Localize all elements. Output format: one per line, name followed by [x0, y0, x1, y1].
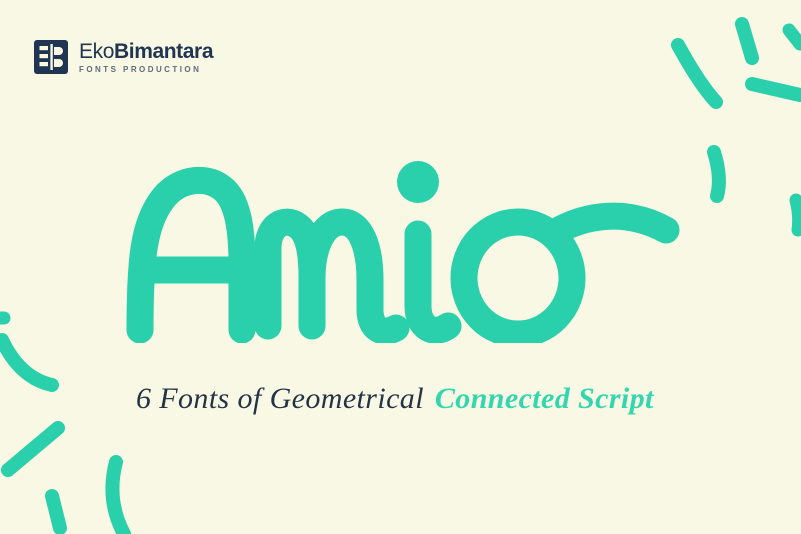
hero-letter-i-dot: [397, 161, 439, 203]
brand-wordmark: EkoBimantara: [79, 41, 213, 62]
decor-dash-top-right-2: [752, 84, 800, 95]
brand-logo-lockup[interactable]: EkoBimantara FONTS PRODUCTION: [32, 38, 213, 76]
decor-dash-left-1: [8, 428, 58, 470]
decor-dash-top-right-1: [742, 24, 752, 58]
decor-arc-top-right-2: [714, 152, 719, 196]
hero-letter-m: [268, 222, 396, 331]
decor-arc-right-edge: [796, 200, 799, 230]
brand-text-block: EkoBimantara FONTS PRODUCTION: [79, 41, 213, 74]
brand-name-bold: Bimantara: [114, 40, 213, 63]
tagline-dark-text: 6 Fonts of Geometrical: [136, 382, 424, 415]
tagline: 6 Fonts of Geometrical Connected Script: [0, 375, 801, 421]
brand-name-light: Eko: [79, 40, 114, 63]
decor-dash-top-right-3: [789, 30, 800, 44]
decor-arc-bottom-center: [112, 462, 124, 534]
hero-letter-A: [140, 180, 242, 330]
tagline-accent-text: Connected Script: [434, 382, 654, 415]
hero-letter-o-flourish: [552, 216, 666, 234]
poster-canvas: EkoBimantara FONTS PRODUCTION: [0, 0, 801, 534]
brand-subline: FONTS PRODUCTION: [79, 66, 213, 74]
decor-dash-left-2: [52, 496, 60, 528]
hero-wordmark: [118, 138, 688, 343]
tagline-lettering: 6 Fonts of Geometrical Connected Script: [136, 375, 666, 421]
eb-monogram-icon: [32, 38, 70, 76]
decor-arc-top-right-1: [678, 45, 716, 102]
hero-wordmark-lettering: [118, 138, 688, 343]
hero-letter-i: [418, 234, 448, 330]
